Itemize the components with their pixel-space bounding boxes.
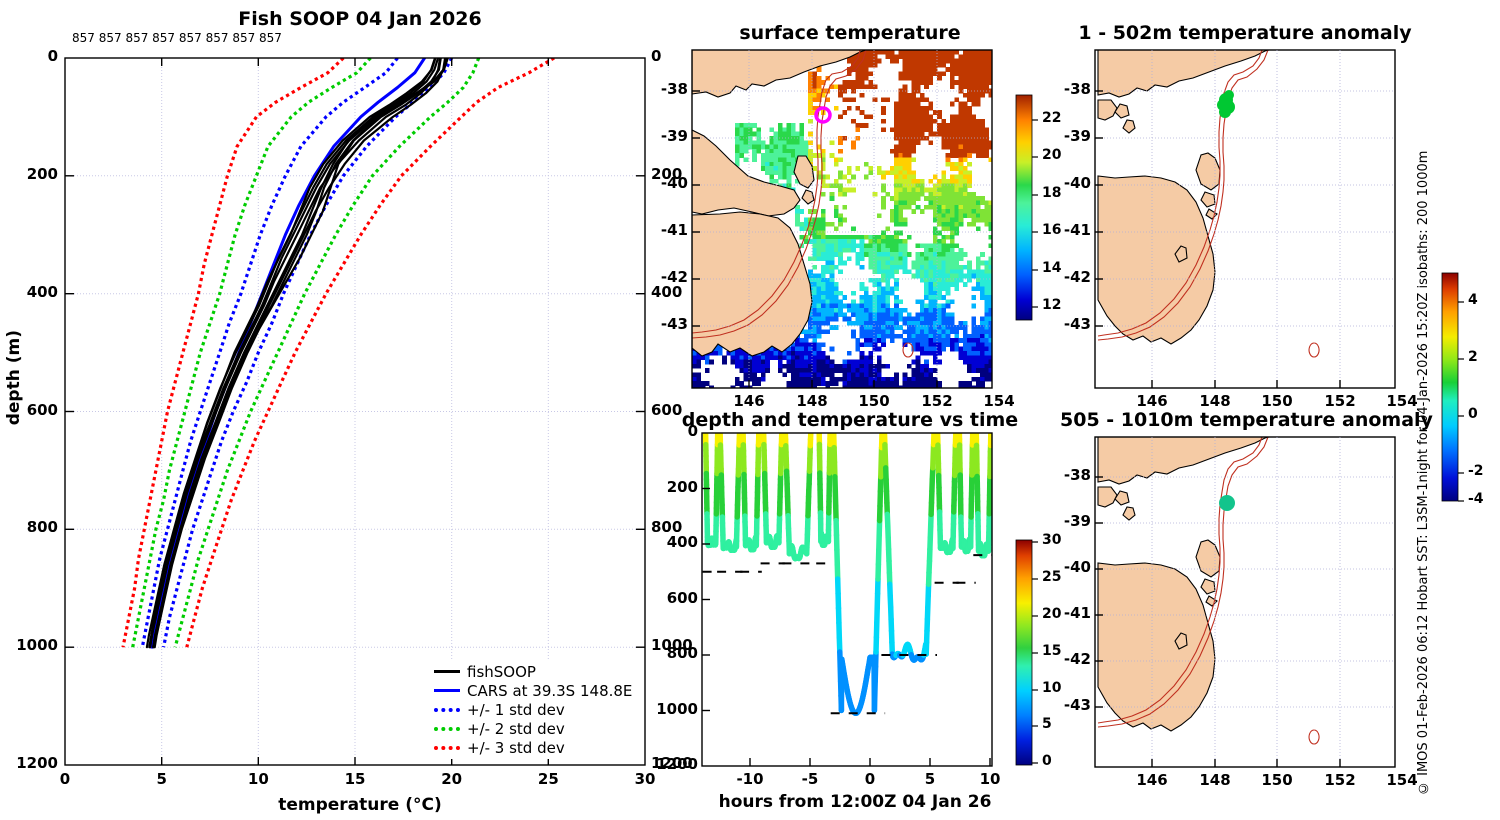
profile-ytick-800: 800 [27, 518, 58, 536]
sst-map-svg [660, 0, 1060, 400]
dive-colorbar-tick: 10 [1042, 680, 1061, 696]
sst-colorbar-tick: 14 [1042, 260, 1061, 276]
sst-colorbar-tick: 12 [1042, 297, 1061, 313]
dive-colorbar-tick: 25 [1042, 569, 1061, 585]
profile-series [150, 58, 440, 647]
profile-series [175, 58, 479, 647]
dive-ytick: 200 [667, 478, 698, 496]
anomaly-lower-xtick: 148 [1199, 771, 1230, 789]
legend-swatch [434, 689, 460, 692]
anomaly-lower-xtick: 146 [1136, 771, 1167, 789]
sst-ytick: -38 [661, 80, 688, 98]
legend-label: +/- 1 std dev [467, 701, 565, 719]
dive-ytick: 1200 [656, 755, 698, 773]
anomaly-lower-ytick: -42 [1064, 650, 1091, 668]
dive-ytick: 0 [688, 422, 698, 440]
legend-label: +/- 3 std dev [467, 739, 565, 757]
sst-colorbar-tick: 22 [1042, 110, 1061, 126]
profile-xtick-30: 30 [635, 770, 656, 788]
anomaly-lower-ytick: -38 [1064, 466, 1091, 484]
anomaly-upper-ytick: -38 [1064, 80, 1091, 98]
legend-label: fishSOOP [467, 663, 536, 681]
legend-label: CARS at 39.3S 148.8E [467, 682, 632, 700]
profile-panel: Fish SOOP 04 Jan 2026 857 857 857 857 85… [0, 0, 660, 820]
legend-swatch [434, 670, 460, 673]
anomaly-colorbar-tick: 2 [1468, 349, 1478, 365]
anomaly-colorbar-tick: 0 [1468, 406, 1478, 422]
anomaly-lower-ytick: -40 [1064, 558, 1091, 576]
copyright-text: © IMOS 01-Feb-2026 06:12 Hobart SST: L3S… [1416, 55, 1431, 795]
dive-ytick: 600 [667, 589, 698, 607]
anomaly-lower-xtick: 154 [1386, 771, 1417, 789]
dive-ytick: 800 [667, 644, 698, 662]
sst-ytick: -40 [661, 174, 688, 192]
profile-ytick-1000: 1000 [16, 636, 58, 654]
anomaly-colorbar [1442, 273, 1458, 501]
anomaly-colorbar-tick: -4 [1468, 491, 1484, 507]
anomaly-upper-ytick: -43 [1064, 315, 1091, 333]
legend-item: +/- 3 std dev [434, 738, 632, 757]
legend-swatch [434, 727, 460, 731]
anomaly-upper-ytick: -40 [1064, 174, 1091, 192]
dive-ytick: 400 [667, 533, 698, 551]
anomaly-upper-ytick: -39 [1064, 127, 1091, 145]
anomaly-upper-svg [1060, 0, 1440, 400]
dive-panel: depth and temperature vs time hours from… [660, 400, 1060, 820]
legend-item: CARS at 39.3S 148.8E [434, 681, 632, 700]
anomaly-lower-ytick: -39 [1064, 512, 1091, 530]
anomaly-lower-ytick: -43 [1064, 696, 1091, 714]
profile-xtick-5: 5 [156, 770, 166, 788]
anomaly-upper-panel: 1 - 502m temperature anomaly 14614815015… [1060, 0, 1440, 400]
dive-plot-svg [660, 400, 1060, 820]
anomaly-colorbar-tick: 4 [1468, 292, 1478, 308]
anomaly-lower-ytick: -41 [1064, 604, 1091, 622]
sst-colorbar-tick: 18 [1042, 185, 1061, 201]
anomaly-lower-svg [1060, 400, 1440, 820]
legend-item: +/- 2 std dev [434, 719, 632, 738]
legend-item: fishSOOP [434, 662, 632, 681]
profile-xtick-20: 20 [441, 770, 462, 788]
profile-ytick-200: 200 [27, 165, 58, 183]
profile-xtick-15: 15 [345, 770, 366, 788]
dive-xtick: 10 [980, 770, 1001, 788]
legend-swatch [434, 708, 460, 712]
sst-ytick: -41 [661, 221, 688, 239]
legend-label: +/- 2 std dev [467, 720, 565, 738]
anomaly-upper-ytick: -41 [1064, 221, 1091, 239]
profile-series [152, 58, 425, 647]
sst-ytick: -42 [661, 268, 688, 286]
anomaly-upper-ytick: -42 [1064, 268, 1091, 286]
dive-colorbar-tick: 5 [1042, 716, 1052, 732]
sst-ytick: -39 [661, 127, 688, 145]
dive-colorbar-tick: 15 [1042, 643, 1061, 659]
profile-series [149, 58, 435, 647]
profile-curves [123, 58, 554, 647]
dive-xtick: -5 [802, 770, 819, 788]
dive-colorbar-tick: 0 [1042, 753, 1052, 769]
anomaly-lower-marker [1219, 495, 1235, 511]
profile-series [150, 58, 438, 647]
profile-ytick-400: 400 [27, 283, 58, 301]
profile-xtick-25: 25 [538, 770, 559, 788]
anomaly-lower-xtick: 150 [1261, 771, 1292, 789]
profile-legend: fishSOOPCARS at 39.3S 148.8E+/- 1 std de… [430, 660, 636, 759]
anomaly-lower-xtick: 152 [1324, 771, 1355, 789]
anomaly-colorbar-tick: -2 [1468, 463, 1484, 479]
profile-ytick-600: 600 [27, 401, 58, 419]
profile-xtick-10: 10 [248, 770, 269, 788]
dive-ytick: 1000 [656, 700, 698, 718]
sst-colorbar-tick: 16 [1042, 222, 1061, 238]
legend-swatch [434, 746, 460, 750]
sst-colorbar-tick: 20 [1042, 147, 1061, 163]
sst-colorbar [1016, 95, 1032, 320]
profile-ytick-0: 0 [48, 47, 58, 65]
dive-colorbar-tick: 20 [1042, 606, 1061, 622]
sst-panel: surface temperature [660, 0, 1060, 400]
dive-xtick: 5 [925, 770, 935, 788]
dive-colorbar [1016, 540, 1032, 765]
profile-gridlines [65, 58, 645, 765]
sst-ytick: -43 [661, 315, 688, 333]
profile-series [123, 58, 343, 647]
profile-ytick-1200: 1200 [16, 754, 58, 772]
profile-series [147, 58, 435, 647]
legend-item: +/- 1 std dev [434, 700, 632, 719]
dive-colorbar-tick: 30 [1042, 532, 1061, 548]
profile-xtick-0: 0 [60, 770, 70, 788]
profile-series [164, 58, 452, 647]
dive-xtick: 0 [865, 770, 875, 788]
dive-xtick: -10 [736, 770, 763, 788]
anomaly-lower-panel: 505 - 1010m temperature anomaly [1060, 400, 1440, 820]
